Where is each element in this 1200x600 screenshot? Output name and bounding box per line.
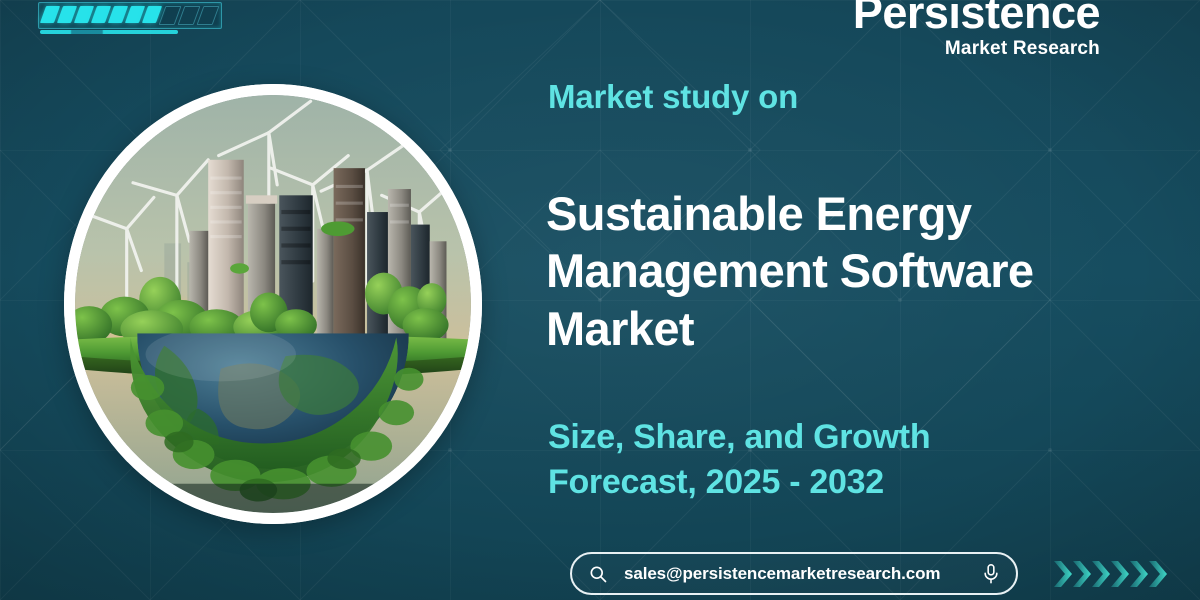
sustainable-city-illustration xyxy=(75,95,471,513)
brand-lockup: Persistence Market Research xyxy=(853,0,1100,58)
headline-line-1: Sustainable Energy xyxy=(546,185,1146,242)
subtitle-line-1: Size, Share, and Growth xyxy=(548,415,1108,460)
brand-name: Persistence xyxy=(853,0,1100,35)
headline-line-3: Market xyxy=(546,300,1146,357)
microphone-icon[interactable] xyxy=(966,563,1016,585)
subtitle-line-2: Forecast, 2025 - 2032 xyxy=(548,460,1108,505)
kicker-text: Market study on xyxy=(548,78,798,116)
page-title: Sustainable Energy Management Software M… xyxy=(546,185,1146,357)
contact-email[interactable]: sales@persistencemarketresearch.com xyxy=(624,564,966,584)
loading-bar-segments xyxy=(43,6,216,25)
report-cover-poster: Persistence Market Research xyxy=(0,0,1200,600)
subtitle: Size, Share, and Growth Forecast, 2025 -… xyxy=(548,415,1108,505)
chevron-right-icon-group xyxy=(1052,556,1182,592)
chevron-decoration xyxy=(1052,556,1182,592)
search-bar[interactable]: sales@persistencemarketresearch.com xyxy=(570,552,1018,595)
loading-bar-underline xyxy=(40,30,178,34)
search-icon[interactable] xyxy=(572,564,624,584)
brand-subtitle: Market Research xyxy=(853,39,1100,58)
hero-circle-image xyxy=(64,84,482,524)
loading-bar-logo xyxy=(38,2,222,34)
headline-line-2: Management Software xyxy=(546,242,1146,299)
hero-image-clip xyxy=(75,95,471,513)
